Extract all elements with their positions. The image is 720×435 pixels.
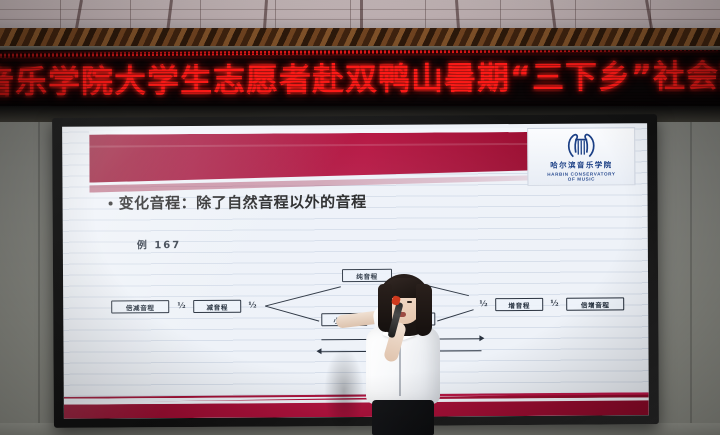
presenter-eye-right [407, 301, 412, 303]
presenter-pants [372, 400, 434, 435]
box-diminished: 减音程 [193, 300, 241, 313]
wall-seam-left [38, 95, 40, 435]
increase-arrow-head [479, 335, 484, 341]
box-double-augmented: 倍增音程 [566, 297, 624, 310]
box-augmented: 增音程 [495, 298, 543, 311]
led-banner: 音乐学院大学生志愿者赴双鸭山暑期“三下乡”社会实践 [0, 50, 720, 108]
conference-room-photo: 音乐学院大学生志愿者赴双鸭山暑期“三下乡”社会实践 [0, 0, 720, 435]
wall-seam-right [690, 95, 692, 435]
presenter-hair-side-right [416, 284, 432, 336]
logo-name-en-2: OF MUSIC [568, 176, 595, 181]
bullet-marker-icon [109, 201, 113, 205]
slide-bullet-row: 变化音程：除了自然音程以外的音程 [109, 189, 629, 213]
fraction-4: ½ [479, 298, 487, 308]
fraction-1: ½ [177, 300, 185, 310]
example-label: 例 167 [137, 236, 181, 251]
logo-name-cn: 哈尔滨音乐学院 [550, 159, 612, 170]
branch-line-down [265, 306, 319, 322]
bullet-text: 变化音程：除了自然音程以外的音程 [119, 191, 367, 214]
decorative-cornice-band [0, 28, 720, 48]
branch-line-up [265, 286, 341, 306]
led-banner-text: 音乐学院大学生志愿者赴双鸭山暑期“三下乡”社会实践 [0, 53, 720, 106]
lyre-icon [564, 132, 598, 158]
ceiling-panels [0, 0, 720, 30]
decrease-arrow-head [316, 348, 321, 354]
box-double-diminished: 倍减音程 [111, 300, 169, 313]
fraction-5: ½ [550, 298, 558, 308]
presenter-shadow [324, 348, 364, 434]
presenter [336, 276, 464, 435]
conservatory-logo: 哈尔滨音乐学院 HARBIN CONSERVATORY OF MUSIC [527, 127, 635, 186]
fraction-2: ½ [248, 300, 256, 310]
